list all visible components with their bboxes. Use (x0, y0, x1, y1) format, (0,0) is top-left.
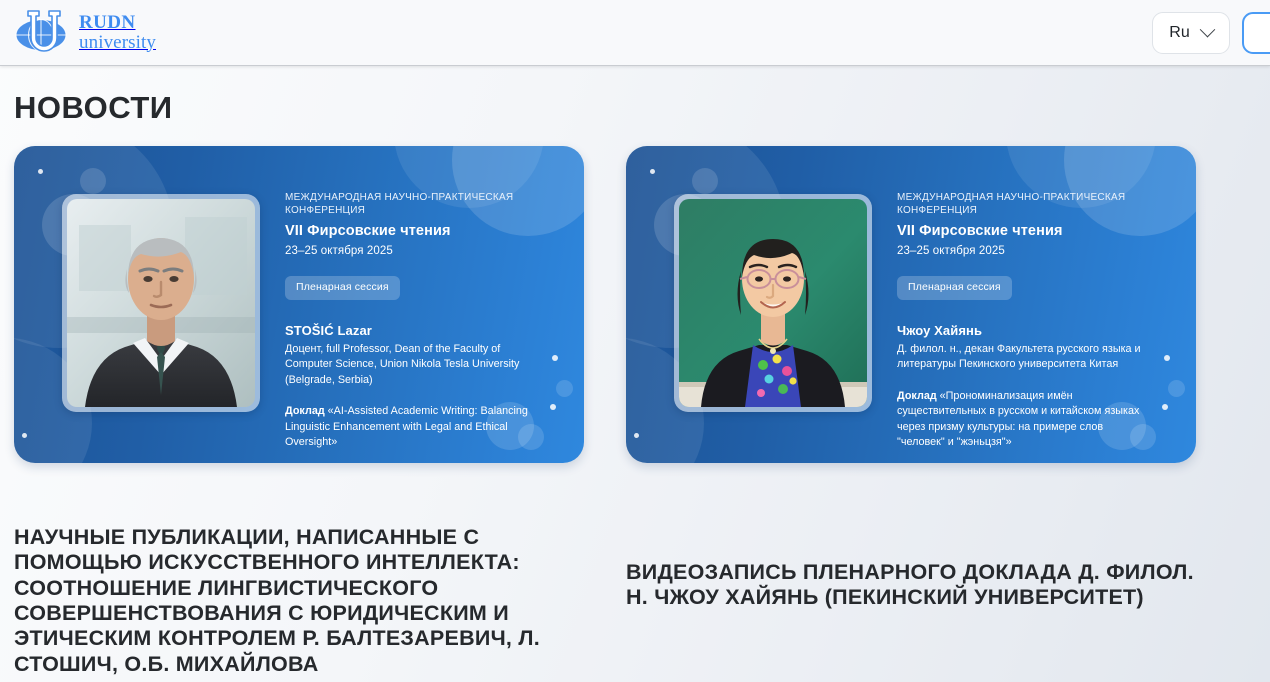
news-promo-card[interactable]: МЕЖДУНАРОДНАЯ НАУЧНО-ПРАКТИЧЕСКАЯ КОНФЕР… (14, 146, 584, 463)
news-item: МЕЖДУНАРОДНАЯ НАУЧНО-ПРАКТИЧЕСКАЯ КОНФЕР… (626, 146, 1196, 677)
talk-label: Доклад (897, 390, 937, 402)
speaker-role: Д. филол. н., декан Факультета русского … (897, 342, 1145, 373)
rudn-globe-logo-icon (14, 7, 68, 59)
conference-title: VII Фирсовские чтения (897, 221, 1176, 242)
card-text-block: МЕЖДУНАРОДНАЯ НАУЧНО-ПРАКТИЧЕСКАЯ КОНФЕР… (872, 146, 1196, 463)
news-promo-card[interactable]: МЕЖДУНАРОДНАЯ НАУЧНО-ПРАКТИЧЕСКАЯ КОНФЕР… (626, 146, 1196, 463)
language-selector[interactable]: Ru (1152, 12, 1230, 54)
speaker-photo-frame (62, 194, 260, 412)
card-text-block: МЕЖДУНАРОДНАЯ НАУЧНО-ПРАКТИЧЕСКАЯ КОНФЕР… (260, 146, 584, 463)
brand-line-1: RUDN (79, 13, 156, 32)
conference-kicker: МЕЖДУНАРОДНАЯ НАУЧНО-ПРАКТИЧЕСКАЯ КОНФЕР… (897, 191, 1176, 218)
status-badge: Пленарная сессия (285, 276, 400, 300)
speaker-name: STOŠIĆ Lazar (285, 322, 564, 340)
speaker-photo-frame (674, 194, 872, 412)
conference-title: VII Фирсовские чтения (285, 221, 564, 242)
speaker-role: Доцент, full Professor, Dean of the Facu… (285, 342, 533, 388)
talk-block: Доклад «AI-Assisted Academic Writing: Ba… (285, 404, 533, 450)
chevron-down-icon (1199, 22, 1215, 38)
news-headline[interactable]: НАУЧНЫЕ ПУБЛИКАЦИИ, НАПИСАННЫЕ С ПОМОЩЬЮ… (14, 525, 584, 677)
header-cta-button[interactable] (1242, 12, 1270, 54)
conference-dates: 23–25 октября 2025 (897, 243, 1176, 259)
news-item: МЕЖДУНАРОДНАЯ НАУЧНО-ПРАКТИЧЕСКАЯ КОНФЕР… (14, 146, 584, 677)
conference-kicker: МЕЖДУНАРОДНАЯ НАУЧНО-ПРАКТИЧЕСКАЯ КОНФЕР… (285, 191, 564, 218)
language-selector-value: Ru (1169, 24, 1189, 42)
speaker-photo (67, 199, 255, 407)
brand-line-2: university (79, 33, 156, 52)
conference-dates: 23–25 октября 2025 (285, 243, 564, 259)
site-header: RUDN university Ru (0, 0, 1270, 66)
header-actions: Ru (1152, 12, 1258, 54)
brand-wordmark: RUDN university (79, 13, 156, 52)
page-title: НОВОСТИ (14, 90, 1270, 126)
news-headline[interactable]: ВИДЕОЗАПИСЬ ПЛЕНАРНОГО ДОКЛАДА Д. ФИЛОЛ.… (626, 560, 1196, 611)
brand-logo-link[interactable]: RUDN university (14, 7, 156, 59)
status-badge: Пленарная сессия (897, 276, 1012, 300)
talk-block: Доклад «Прономинализация имён существите… (897, 389, 1145, 451)
talk-label: Доклад (285, 405, 325, 417)
news-grid: МЕЖДУНАРОДНАЯ НАУЧНО-ПРАКТИЧЕСКАЯ КОНФЕР… (0, 146, 1270, 677)
speaker-photo (679, 199, 867, 407)
speaker-name: Чжоу Хайянь (897, 322, 1176, 340)
